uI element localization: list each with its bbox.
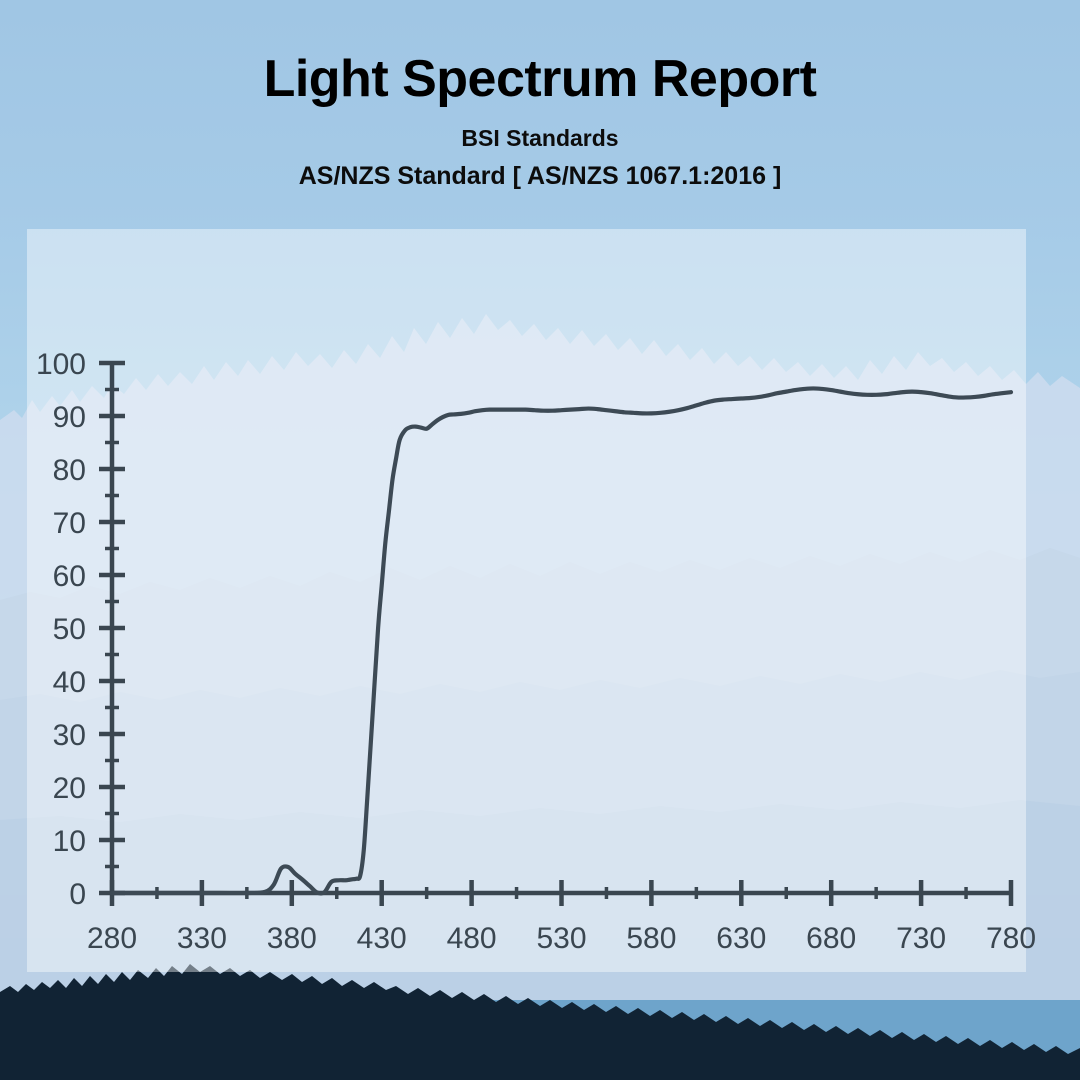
chart-standard-reference: AS/NZS Standard [ AS/NZS 1067.1:2016 ] bbox=[0, 164, 1080, 189]
report-page: Light Spectrum Report BSI Standards AS/N… bbox=[0, 0, 1080, 1080]
page-title: Light Spectrum Report bbox=[0, 52, 1080, 107]
title-block: Light Spectrum Report BSI Standards AS/N… bbox=[0, 52, 1080, 189]
chart-subtitle: BSI Standards bbox=[0, 127, 1080, 150]
chart-panel bbox=[27, 229, 1026, 972]
